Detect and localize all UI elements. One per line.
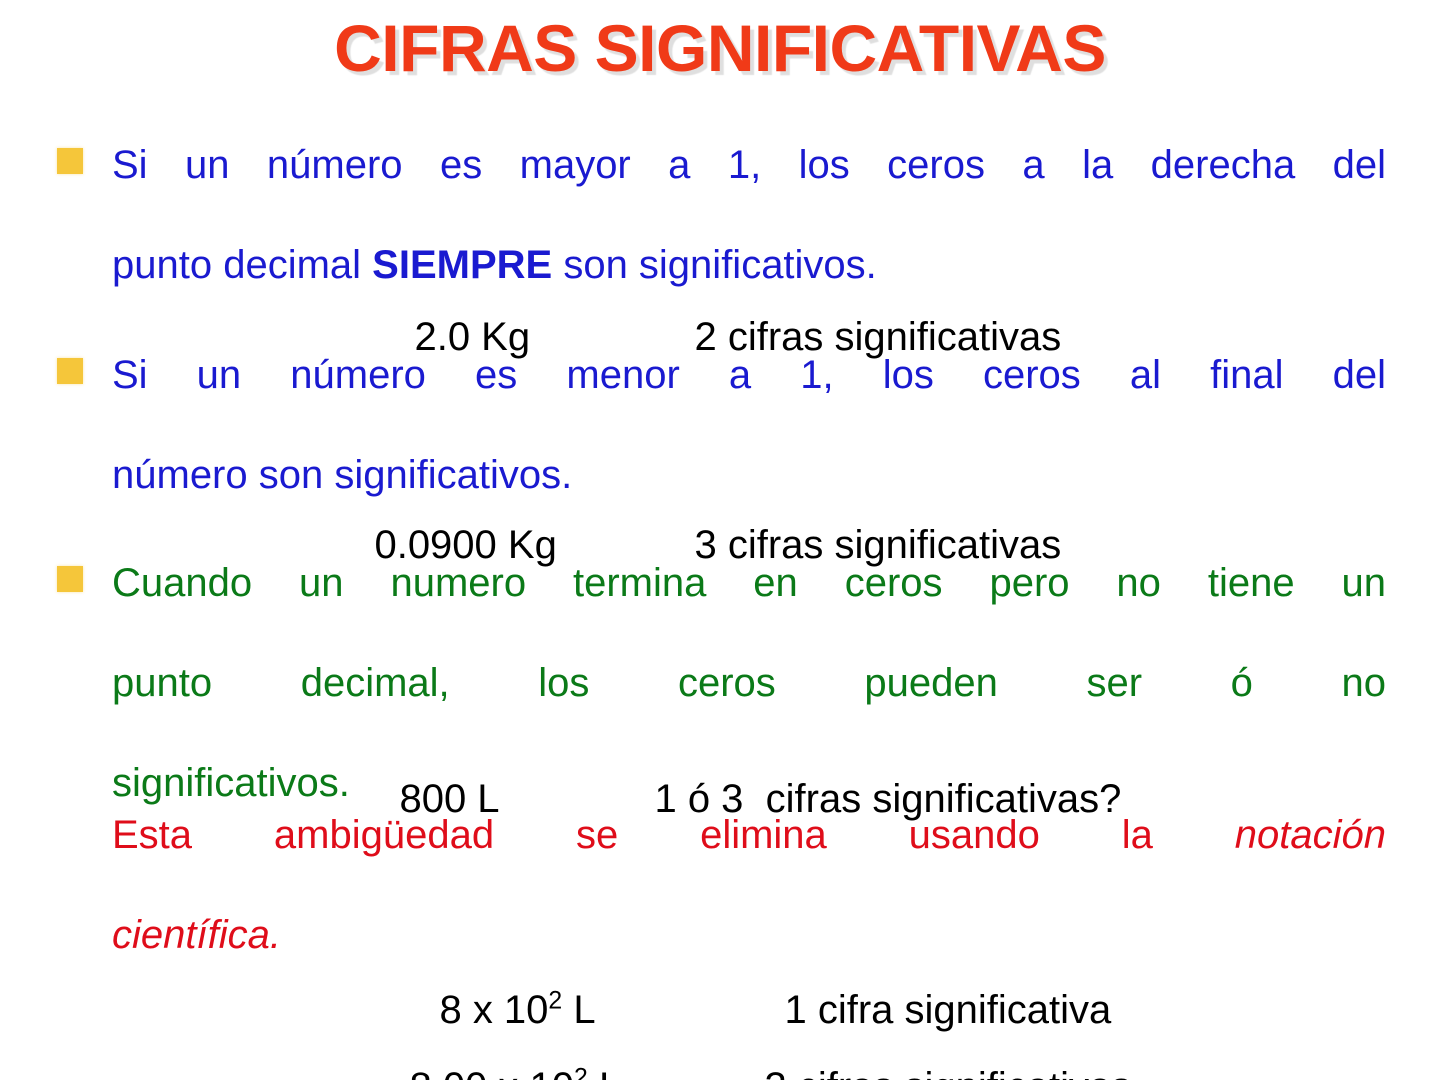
example-800e2-l-value-post: L: [588, 1065, 621, 1080]
square-bullet-icon: [57, 148, 83, 174]
bullet-3-line-1: Cuando un numero termina en ceros pero n…: [112, 558, 1386, 658]
example-800e2-l-exponent: 2: [574, 1065, 588, 1080]
page-title: CIFRAS SIGNIFICATIVAS: [0, 14, 1440, 83]
note-line-1: Esta ambigüedad se elimina usando la not…: [112, 810, 1386, 910]
bullet-1-line-1: Si un número es mayor a 1, los ceros a l…: [112, 140, 1386, 240]
example-800e2-l: 8.00 x 102 L3 cifras significativas: [365, 1015, 1131, 1080]
example-8e2-l-exponent: 2: [548, 988, 562, 1015]
note-line-2-italic: científica.: [112, 913, 281, 957]
example-800e2-l-value: 8.00 x 102 L: [409, 1063, 764, 1080]
note-line-1-italic: notación: [1235, 813, 1386, 857]
example-800e2-l-value-pre: 8.00 x 10: [409, 1065, 574, 1080]
example-800e2-l-description: 3 cifras significativas: [764, 1063, 1131, 1080]
slide-canvas: CIFRAS SIGNIFICATIVAS Si un número es ma…: [0, 0, 1440, 1080]
bullet-1-line-2-pre: punto decimal: [112, 243, 372, 287]
note-line-1-plain: Esta ambigüedad se elimina usando la: [112, 813, 1153, 857]
square-bullet-icon: [57, 566, 83, 592]
bullet-2-line-1: Si un número es menor a 1, los ceros al …: [112, 350, 1386, 450]
square-bullet-icon: [57, 358, 83, 384]
